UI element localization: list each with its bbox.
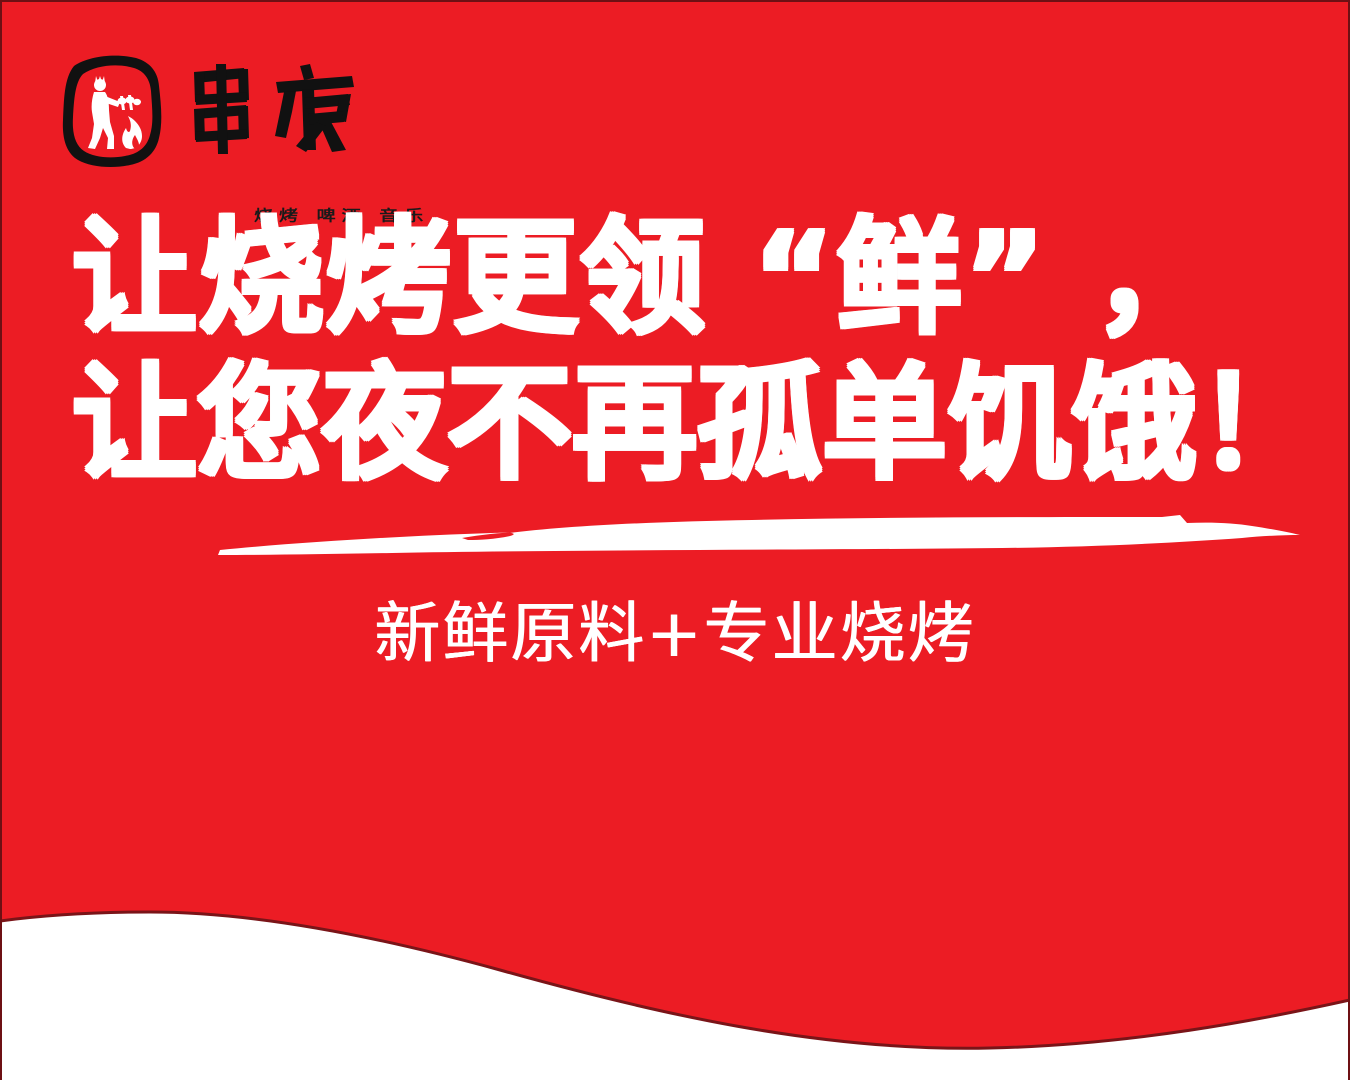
bbq-person-grilling-skewers-seal-icon: [58, 52, 168, 170]
brand-logo: 烧烤 啤酒 音乐: [58, 52, 358, 187]
poster-canvas: 烧烤 啤酒 音乐 让烧烤更领 “鲜” ， 让您夜不再孤单饥饿！ 新鲜原料+专业烧…: [0, 0, 1350, 1080]
headline-line-1: 让烧烤更领 “鲜” ，: [72, 206, 1312, 352]
headline-line-2: 让您夜不再孤单饥饿！: [72, 352, 1312, 498]
subtitle-text: 新鲜原料+专业烧烤: [0, 596, 1350, 672]
brush-stroke-swoosh-divider: [212, 498, 1302, 568]
brand-wordmark-icon: [180, 62, 360, 157]
headline: 让烧烤更领 “鲜” ， 让您夜不再孤单饥饿！: [72, 206, 1312, 498]
